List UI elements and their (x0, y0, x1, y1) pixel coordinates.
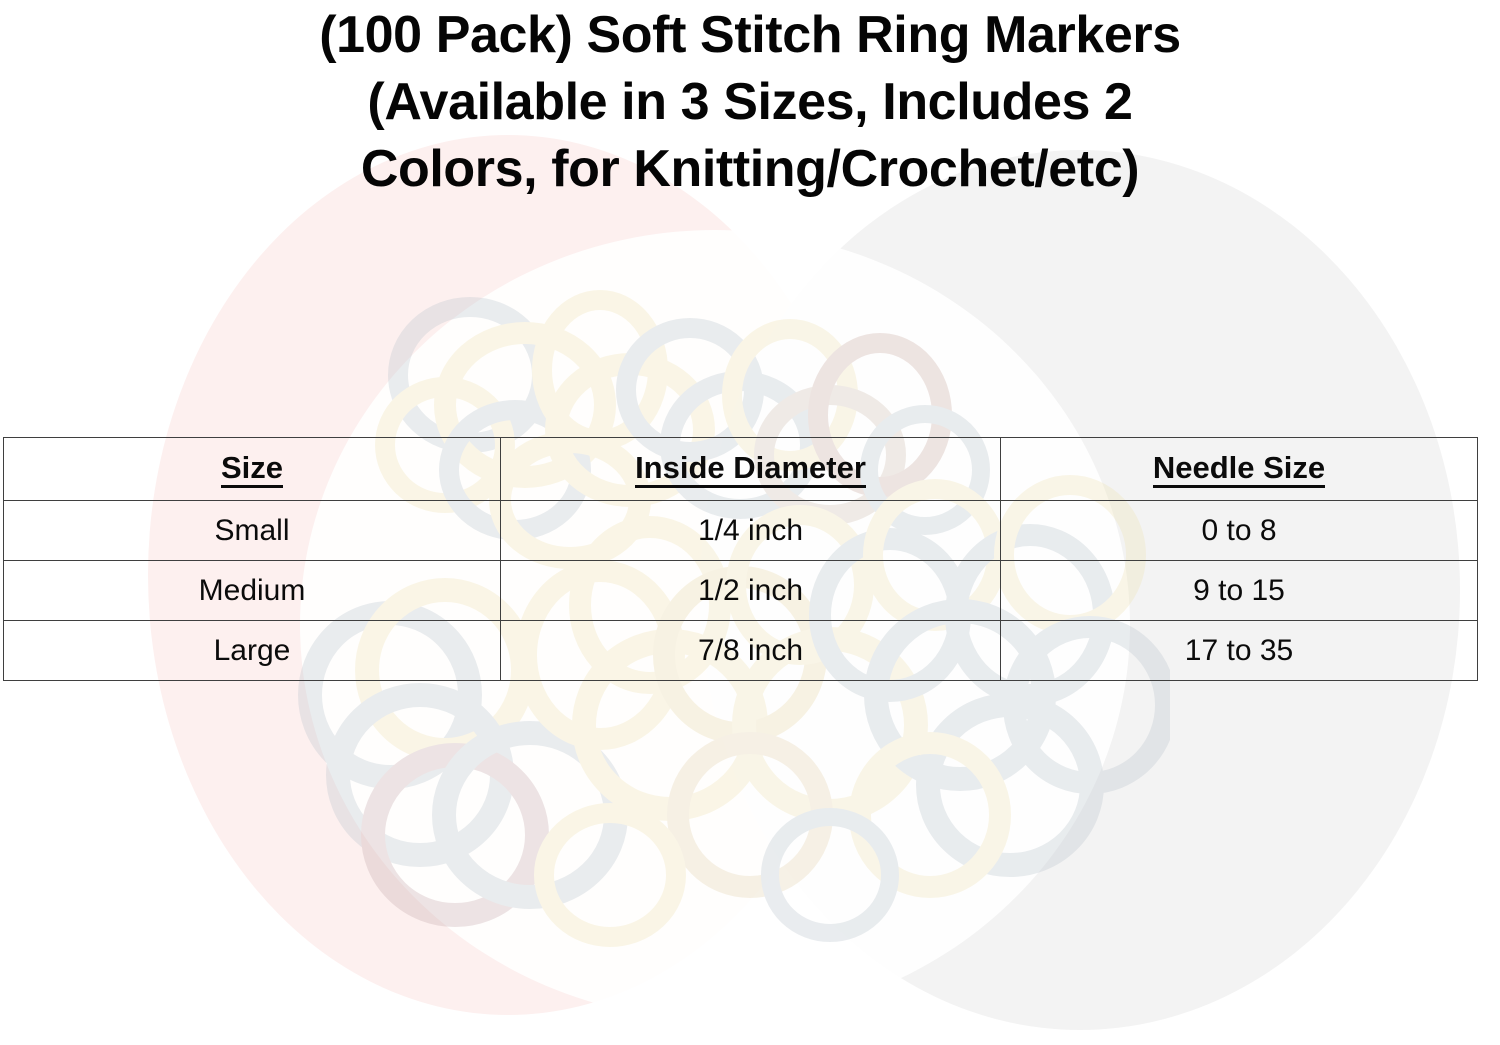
page-title: (100 Pack) Soft Stitch Ring Markers (Ava… (0, 2, 1500, 203)
table-header-row: Size Inside Diameter Needle Size (4, 438, 1478, 501)
table-row: Small 1/4 inch 0 to 8 (4, 501, 1478, 561)
cell-inside-diameter: 1/4 inch (501, 501, 1001, 561)
table-body: Small 1/4 inch 0 to 8 Medium 1/2 inch 9 … (4, 501, 1478, 681)
cell-inside-diameter: 1/2 inch (501, 561, 1001, 621)
column-header-size-label: Size (221, 452, 283, 489)
cell-needle-size: 17 to 35 (1001, 621, 1478, 681)
cell-size: Small (4, 501, 501, 561)
cell-needle-size: 0 to 8 (1001, 501, 1478, 561)
column-header-needle-size-label: Needle Size (1153, 452, 1325, 489)
cell-size: Medium (4, 561, 501, 621)
table-header: Size Inside Diameter Needle Size (4, 438, 1478, 501)
cell-inside-diameter: 7/8 inch (501, 621, 1001, 681)
column-header-size: Size (4, 438, 501, 501)
table-row: Large 7/8 inch 17 to 35 (4, 621, 1478, 681)
column-header-inside-diameter: Inside Diameter (501, 438, 1001, 501)
size-chart-table: Size Inside Diameter Needle Size Small 1… (3, 437, 1478, 681)
cell-needle-size: 9 to 15 (1001, 561, 1478, 621)
product-infographic: (100 Pack) Soft Stitch Ring Markers (Ava… (0, 0, 1500, 1045)
column-header-needle-size: Needle Size (1001, 438, 1478, 501)
cell-size: Large (4, 621, 501, 681)
table-row: Medium 1/2 inch 9 to 15 (4, 561, 1478, 621)
column-header-inside-diameter-label: Inside Diameter (635, 452, 866, 489)
